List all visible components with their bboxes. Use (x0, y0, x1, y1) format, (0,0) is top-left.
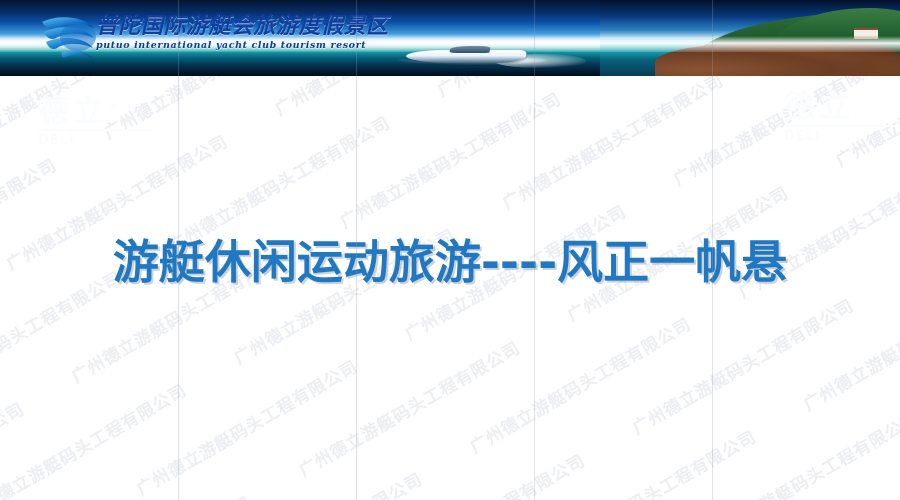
banner-title-cn: 普陀国际游艇会旅游度假景区 (96, 14, 396, 39)
watermark-text: 广州德立游艇码头工程有限公司 (196, 465, 427, 500)
brand-watermark-right: 德立 DELI (784, 90, 894, 146)
watermark-text: 广州德立游艇码头工程有限公司 (98, 76, 329, 144)
watermark-text: 广州德立游艇码头工程有限公司 (692, 404, 900, 500)
watermark-row: 广州德立游艇码头工程有限公司广州德立游艇码头工程有限公司广州德立游艇码头工程有限… (90, 113, 900, 500)
brand-watermark-right-rule (784, 125, 894, 127)
banner-title-en: putuo international yacht club tourism r… (96, 40, 396, 51)
watermark-text: 广州德立游艇码头工程有限公司 (668, 76, 899, 190)
watermark-text: 广州德立游艇码头工程有限公司 (464, 310, 695, 458)
banner-title-block: 普陀国际游艇会旅游度假景区 putuo international yacht … (96, 14, 396, 51)
brand-watermark-cn-text: 德立 (38, 93, 108, 129)
watermark-text: 广州德立游艇码头工程有限公司 (293, 334, 524, 482)
watermark-text: 广州德立游艇码头工程有限公司 (25, 489, 256, 500)
slide-canvas: 普陀国际游艇会旅游度假景区 putuo international yacht … (0, 0, 900, 500)
watermark-text: 广州德立游艇码头工程有限公司 (830, 76, 900, 172)
brand-watermark-cn: 德立® (38, 90, 168, 128)
brand-watermark-en: DELI (38, 133, 168, 148)
watermark-text: 广州德立游艇码头工程有限公司 (497, 76, 728, 214)
brand-watermark-right-en: DELI (784, 129, 894, 144)
watermark-text: 广州德立游艇码头工程有限公司 (0, 395, 28, 500)
watermark-text: 广州德立游艇码头工程有限公司 (432, 76, 663, 101)
page-title: 游艇休闲运动旅游----风正一帆悬 (0, 226, 900, 292)
watermark-text: 广州德立游艇码头工程有限公司 (529, 423, 760, 500)
watermark-text: 广州德立游艇码头工程有限公司 (334, 85, 565, 233)
registered-mark-icon: ® (108, 100, 123, 113)
fish-wave-logo-icon (38, 12, 100, 62)
header-banner: 普陀国际游艇会旅游度假景区 putuo international yacht … (0, 0, 900, 76)
watermark-text: 广州德立游艇码头工程有限公司 (627, 292, 858, 440)
watermark-text: 广州德立游艇码头工程有限公司 (0, 376, 191, 500)
yacht-illustration (396, 44, 586, 70)
brand-watermark-rule (38, 129, 150, 131)
watermark-row: 广州德立游艇码头工程有限公司广州德立游艇码头工程有限公司广州德立游艇码头工程有限… (0, 169, 900, 500)
watermark-text: 广州德立游艇码头工程有限公司 (131, 353, 362, 500)
slide-body: 广州德立游艇码头工程有限公司广州德立游艇码头工程有限公司广州德立游艇码头工程有限… (0, 76, 900, 500)
watermark-text: 广州德立游艇码头工程有限公司 (0, 76, 167, 163)
brand-watermark-left: 德立® DELI (38, 90, 168, 146)
yacht-cabin (449, 46, 490, 53)
watermark-text: 广州德立游艇码头工程有限公司 (603, 76, 834, 78)
watermark-text: 广州德立游艇码头工程有限公司 (358, 447, 589, 500)
watermark-text: 广州德立游艇码头工程有限公司 (269, 76, 500, 120)
brand-watermark-right-cn: 德立 (784, 90, 894, 124)
